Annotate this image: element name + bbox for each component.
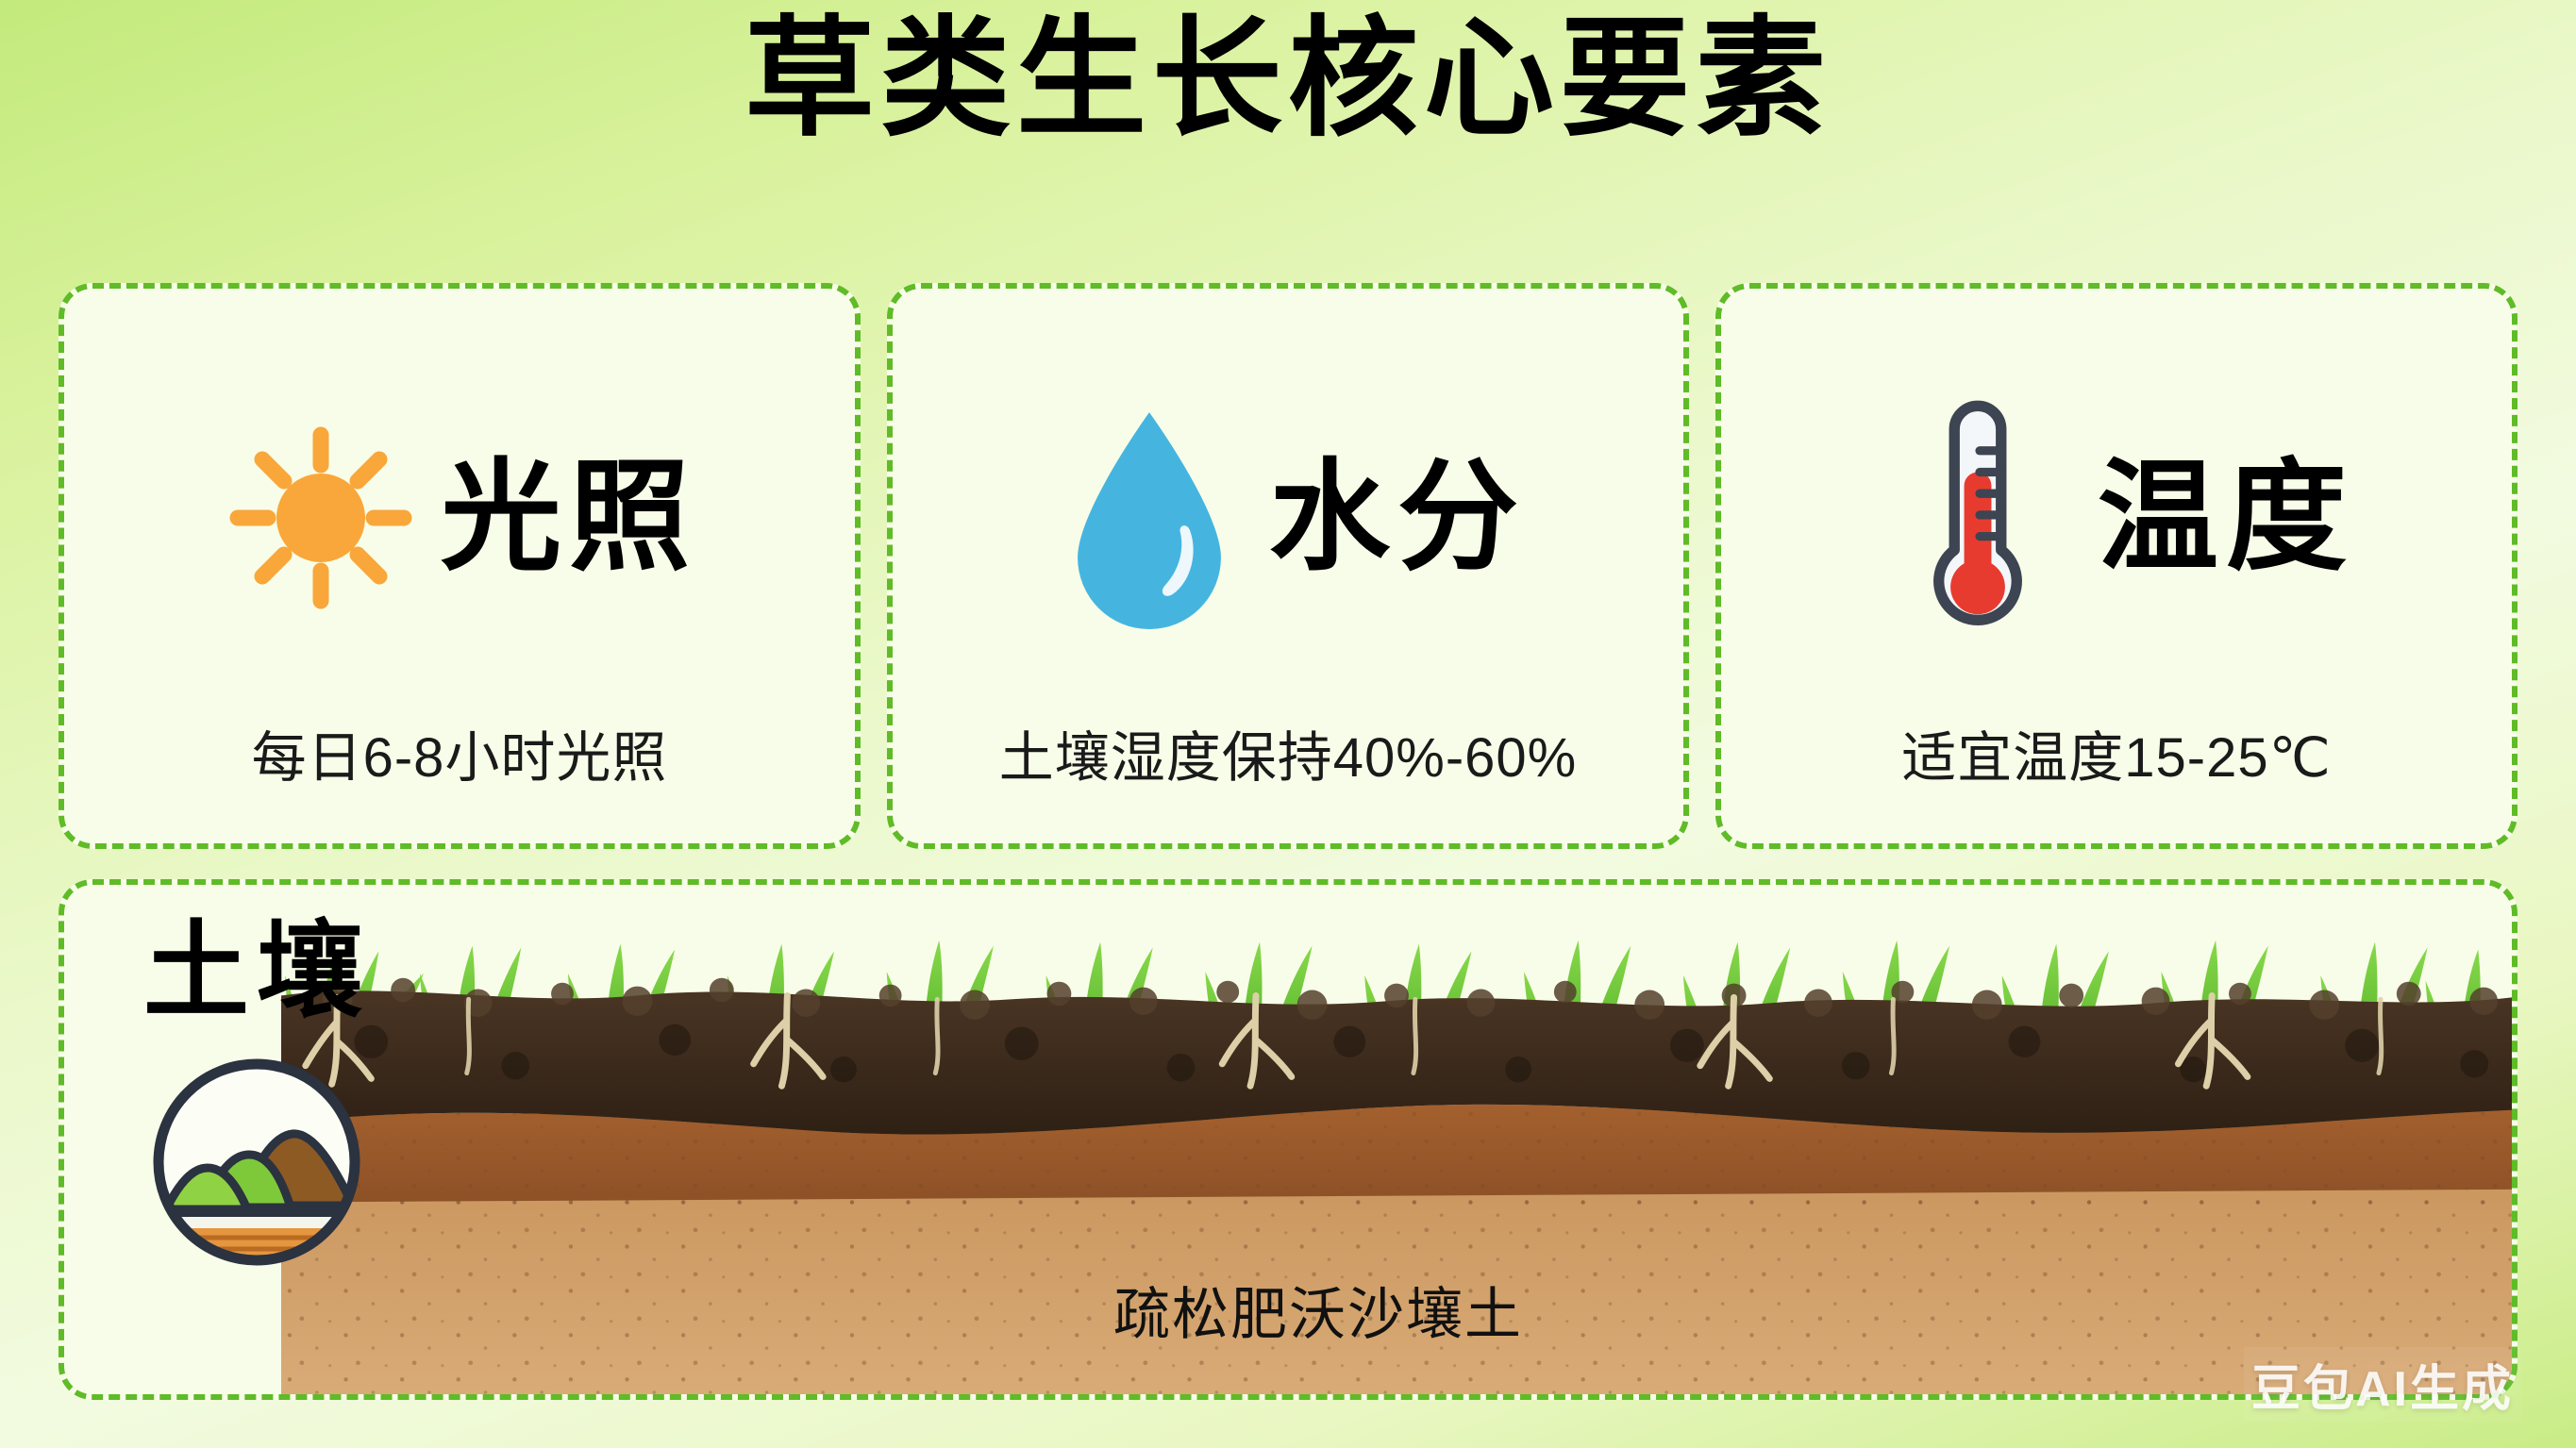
card-moisture-label: 水分 (1269, 458, 1526, 578)
soil-caption: 疏松肥沃沙壤土 (1113, 1269, 1523, 1351)
card-sunlight[interactable]: 光照 每日6-8小时光照 (59, 283, 861, 849)
factor-cards-row: 光照 每日6-8小时光照 水分 土壤湿度保持40%-60% (59, 283, 2517, 849)
page-header: 草类生长核心要素 (0, 0, 2576, 158)
card-moisture-caption: 土壤湿度保持40%-60% (999, 713, 1578, 843)
card-sunlight-label: 光照 (441, 458, 697, 578)
page-title: 草类生长核心要素 (744, 14, 1832, 144)
card-temperature-caption: 适宜温度15-25℃ (1901, 713, 2331, 843)
soil-left-column: 土壤 (64, 885, 449, 1394)
sun-icon (222, 400, 420, 636)
card-moisture-header: 水分 (893, 323, 1683, 713)
card-moisture[interactable]: 水分 土壤湿度保持40%-60% (887, 283, 1689, 849)
soil-layers-circle-icon (143, 1049, 370, 1280)
card-sunlight-header: 光照 (64, 323, 855, 713)
soil-title: 土壤 (143, 919, 370, 1024)
card-temperature-header: 温度 (1721, 323, 2512, 713)
thermometer-icon (1879, 400, 2077, 636)
water-drop-icon (1050, 400, 1248, 636)
watermark: 豆包AI生成 (2244, 1347, 2521, 1422)
card-sunlight-caption: 每日6-8小时光照 (252, 713, 668, 843)
card-temperature-label: 温度 (2098, 458, 2354, 578)
card-temperature[interactable]: 温度 适宜温度15-25℃ (1715, 283, 2517, 849)
